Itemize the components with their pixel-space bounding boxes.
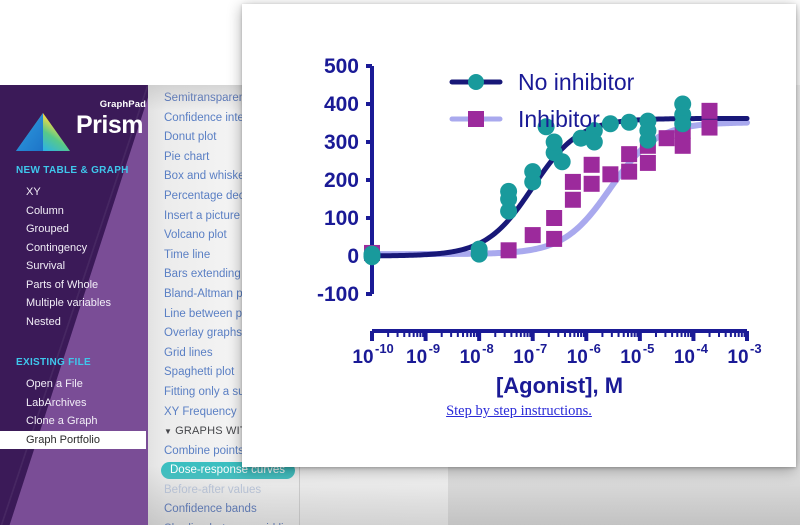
- graph-preview-card: -100010020030040050010-1010-910-810-710-…: [242, 4, 796, 467]
- svg-text:-9: -9: [429, 341, 441, 356]
- sidebar-nav-list[interactable]: XYColumnGroupedContingencySurvivalParts …: [24, 183, 111, 331]
- svg-text:-6: -6: [589, 341, 601, 356]
- data-point-inhibitor: [546, 231, 562, 247]
- data-point-no-inhibitor: [364, 248, 381, 265]
- sidebar-nav-list[interactable]: Open a FileLabArchivesClone a GraphGraph…: [24, 375, 146, 449]
- sidebar[interactable]: GraphPad Prism NEW TABLE & GRAPHXYColumn…: [0, 85, 148, 530]
- data-point-inhibitor: [640, 155, 656, 171]
- y-tick-label: 500: [324, 55, 359, 78]
- sidebar-item-graph-portfolio[interactable]: Graph Portfolio: [0, 431, 146, 450]
- svg-text:10: 10: [674, 347, 695, 368]
- data-point-no-inhibitor: [554, 153, 571, 170]
- data-point-no-inhibitor: [602, 115, 619, 132]
- y-tick-label: 400: [324, 93, 359, 116]
- sidebar-item-multiple-variables[interactable]: Multiple variables: [24, 294, 111, 313]
- data-point-no-inhibitor: [639, 122, 656, 139]
- y-tick-label: 0: [347, 245, 359, 268]
- data-point-inhibitor: [621, 146, 637, 162]
- legend-label: No inhibitor: [518, 69, 635, 95]
- example-item-confidence-bands[interactable]: Confidence bands: [161, 500, 448, 520]
- sidebar-item-grouped[interactable]: Grouped: [24, 220, 111, 239]
- x-tick-label: 10-3: [727, 341, 761, 368]
- data-point-inhibitor: [525, 227, 541, 243]
- svg-text:10: 10: [727, 347, 748, 368]
- x-tick-label: 10-8: [460, 341, 494, 368]
- x-tick-label: 10-7: [513, 341, 547, 368]
- sidebar-item-column[interactable]: Column: [24, 202, 111, 221]
- graphpad-text: GraphPad: [76, 99, 146, 111]
- dose-response-chart: -100010020030040050010-1010-910-810-710-…: [242, 4, 796, 404]
- sidebar-item-xy[interactable]: XY: [24, 183, 111, 202]
- svg-text:-8: -8: [482, 341, 494, 356]
- svg-text:-4: -4: [696, 341, 708, 356]
- legend-entry-no-inhibitor: No inhibitor: [452, 69, 635, 95]
- x-tick-label: 10-9: [406, 341, 440, 368]
- svg-text:-3: -3: [750, 341, 762, 356]
- example-item-before-after-values[interactable]: Before-after values: [161, 481, 448, 501]
- x-tick-label: 10-4: [674, 341, 709, 368]
- prism-wordmark: GraphPad Prism: [76, 99, 146, 139]
- data-point-inhibitor: [565, 192, 581, 208]
- desktop-bottom-strip: [0, 525, 800, 530]
- data-point-no-inhibitor: [586, 134, 603, 151]
- sidebar-item-contingency[interactable]: Contingency: [24, 239, 111, 258]
- svg-text:-10: -10: [375, 341, 394, 356]
- x-tick-label: 10-6: [567, 341, 601, 368]
- data-point-inhibitor: [675, 138, 691, 154]
- data-point-no-inhibitor: [546, 134, 563, 151]
- data-point-no-inhibitor: [674, 115, 691, 132]
- data-point-no-inhibitor: [500, 183, 517, 200]
- svg-text:10: 10: [352, 347, 373, 368]
- data-point-no-inhibitor: [621, 114, 638, 131]
- data-point-no-inhibitor: [524, 163, 541, 180]
- x-tick-label: 10-10: [352, 341, 393, 368]
- x-axis-title: [Agonist], M: [496, 373, 623, 398]
- screenshot-root: Semitransparent symbolsConfidence interv…: [0, 0, 800, 530]
- y-tick-label: 300: [324, 131, 359, 154]
- sidebar-item-labarchives[interactable]: LabArchives: [24, 394, 146, 413]
- svg-text:10: 10: [513, 347, 534, 368]
- y-tick-label: 200: [324, 169, 359, 192]
- x-tick-label: 10-5: [620, 341, 654, 368]
- legend-entry-inhibitor: Inhibitor: [452, 106, 600, 132]
- prism-triangle-icon: [14, 111, 72, 153]
- data-point-inhibitor: [702, 103, 718, 119]
- y-tick-label: 100: [324, 207, 359, 230]
- sidebar-item-open-a-file[interactable]: Open a File: [24, 375, 146, 394]
- data-point-inhibitor: [565, 174, 581, 190]
- prism-logo: GraphPad Prism: [14, 97, 136, 155]
- sidebar-item-nested[interactable]: Nested: [24, 313, 111, 332]
- data-point-inhibitor: [584, 157, 600, 173]
- chart-svg: -100010020030040050010-1010-910-810-710-…: [242, 4, 796, 404]
- sidebar-item-survival[interactable]: Survival: [24, 257, 111, 276]
- svg-text:10: 10: [406, 347, 427, 368]
- data-point-inhibitor: [602, 166, 618, 182]
- sidebar-item-parts-of-whole[interactable]: Parts of Whole: [24, 276, 111, 295]
- svg-text:10: 10: [460, 347, 481, 368]
- sidebar-item-clone-a-graph[interactable]: Clone a Graph: [24, 412, 146, 431]
- prism-text: Prism: [76, 112, 146, 139]
- step-by-step-instructions-link[interactable]: Step by step instructions.: [446, 403, 592, 419]
- svg-text:10: 10: [620, 347, 641, 368]
- y-tick-label: -100: [317, 283, 359, 306]
- svg-text:10: 10: [567, 347, 588, 368]
- data-point-inhibitor: [546, 210, 562, 226]
- legend-label: Inhibitor: [518, 106, 600, 132]
- data-point-no-inhibitor: [471, 246, 488, 263]
- svg-text:-5: -5: [643, 341, 655, 356]
- instructions-row: Step by step instructions.: [242, 402, 796, 420]
- data-point-inhibitor: [702, 120, 718, 136]
- data-point-inhibitor: [621, 164, 637, 180]
- sidebar-section-title: EXISTING FILE: [16, 357, 91, 368]
- sidebar-section-title: NEW TABLE & GRAPH: [16, 165, 129, 176]
- chevron-down-icon[interactable]: ▼: [164, 427, 172, 436]
- data-point-inhibitor: [659, 130, 675, 146]
- data-point-inhibitor: [584, 176, 600, 192]
- svg-text:-7: -7: [536, 341, 548, 356]
- data-point-inhibitor: [501, 242, 517, 258]
